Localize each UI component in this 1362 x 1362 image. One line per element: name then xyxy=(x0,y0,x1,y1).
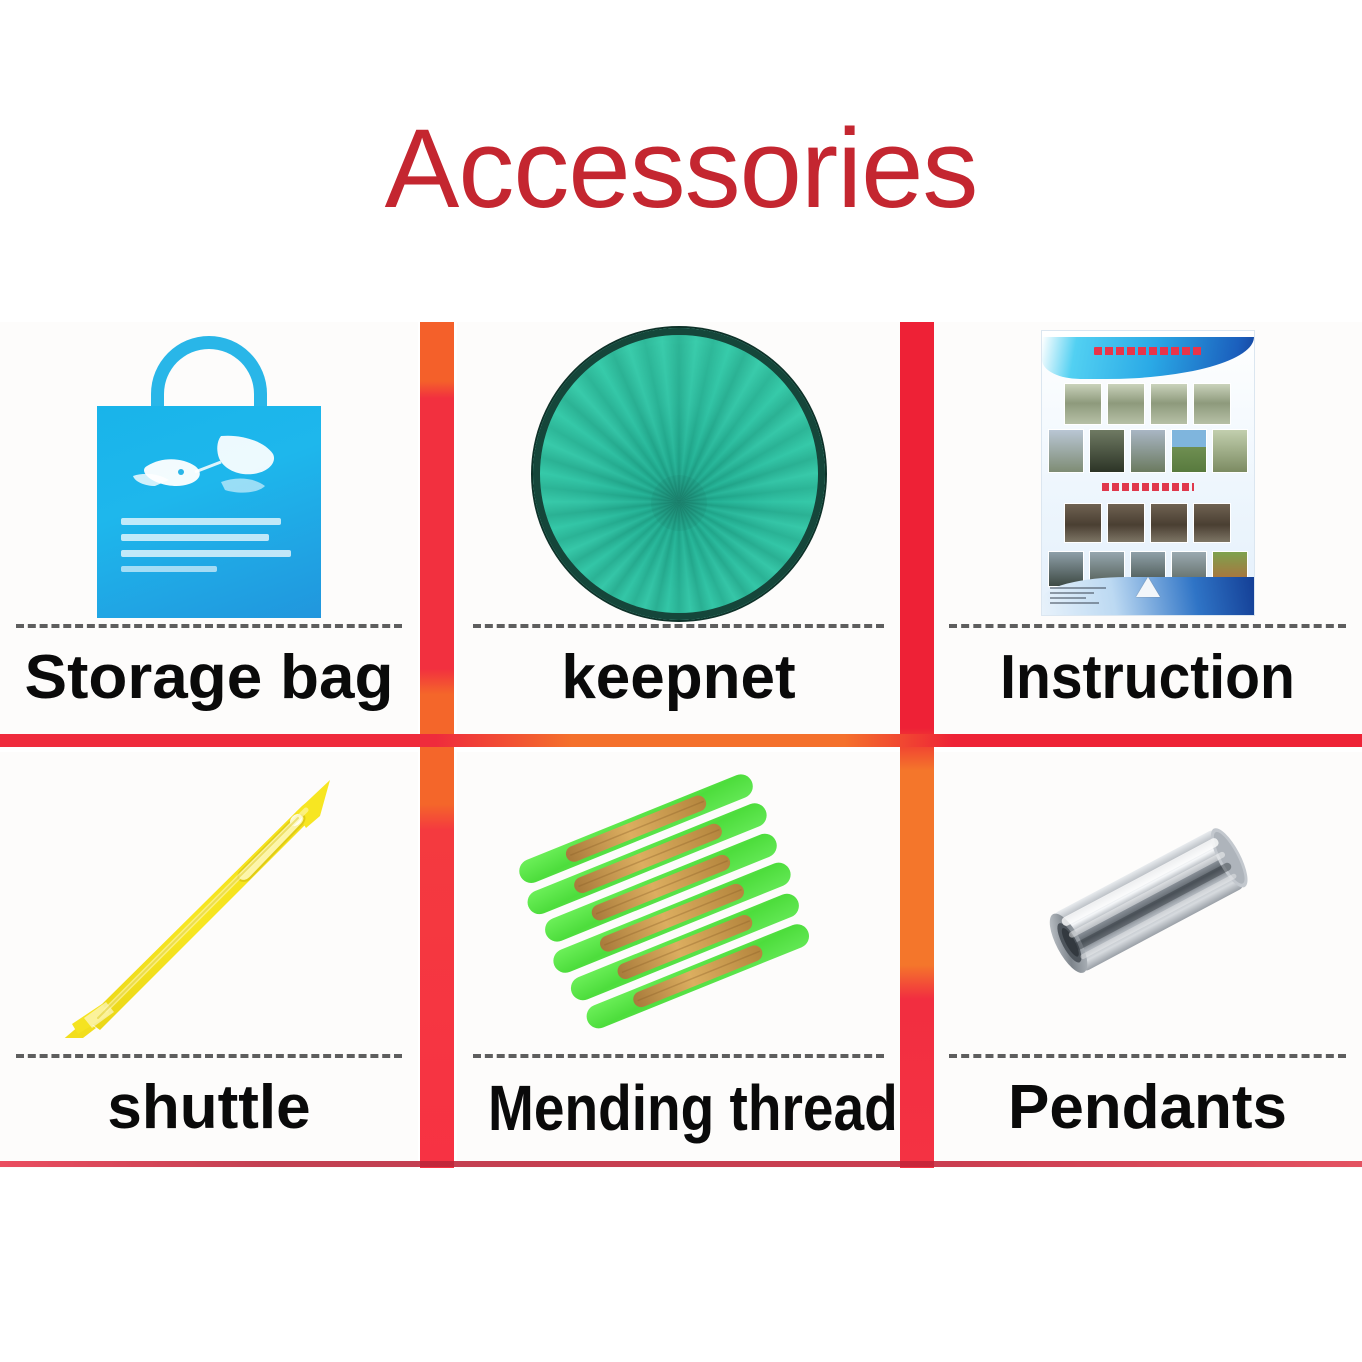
keepnet-mesh-texture xyxy=(540,335,818,613)
storage-bag-image xyxy=(0,322,418,622)
shuttle-image xyxy=(0,752,418,1052)
pendant-sinker-icon xyxy=(998,776,1298,1026)
grid-cell-keepnet[interactable]: keepnet xyxy=(457,322,900,740)
pendant-image xyxy=(933,752,1362,1052)
bag-body xyxy=(97,406,321,618)
accessories-page: Accessories xyxy=(0,0,1362,1362)
instruction-sheet-image xyxy=(933,322,1362,622)
pendant-body xyxy=(1042,824,1254,979)
instruction-poster xyxy=(1041,330,1255,616)
poster-thumb-row-1 xyxy=(1042,383,1254,425)
cell-divider-dashed xyxy=(473,1054,884,1058)
poster-thumb xyxy=(1089,429,1125,473)
poster-footer-text xyxy=(1050,587,1106,607)
bag-print-graphic xyxy=(125,432,289,506)
cell-divider-dashed xyxy=(949,624,1346,628)
cell-label-instruction: Instruction xyxy=(950,640,1345,716)
poster-thumb xyxy=(1107,503,1145,543)
poster-thumb xyxy=(1193,383,1231,425)
mending-thread-icon xyxy=(514,760,844,1046)
grid-cell-shuttle[interactable]: shuttle xyxy=(0,752,418,1168)
poster-header-banner xyxy=(1042,337,1254,379)
grid-cell-pendants[interactable]: Pendants xyxy=(933,752,1362,1168)
grid-cell-storage-bag[interactable]: Storage bag xyxy=(0,322,418,740)
keepnet-icon xyxy=(533,328,825,620)
poster-thumb xyxy=(1107,383,1145,425)
cell-label-shuttle: shuttle xyxy=(0,1070,418,1146)
poster-thumb xyxy=(1048,429,1084,473)
cell-divider-dashed xyxy=(473,624,884,628)
poster-thumb xyxy=(1064,383,1102,425)
grid-bottom-border xyxy=(0,1161,1362,1167)
cell-divider-dashed xyxy=(16,624,402,628)
poster-thumb-row-2 xyxy=(1042,429,1254,473)
bag-print-text xyxy=(121,518,297,581)
poster-thumb xyxy=(1150,503,1188,543)
cell-divider-dashed xyxy=(16,1054,402,1058)
poster-thumb xyxy=(1130,429,1166,473)
accessories-grid: Storage bag keepnet xyxy=(0,322,1362,1168)
mending-thread-image xyxy=(457,752,900,1052)
grid-cell-instruction[interactable]: Instruction xyxy=(933,322,1362,740)
netting-shuttle-icon xyxy=(44,762,374,1038)
shopping-bag-icon xyxy=(89,336,329,618)
grid-divider-horizontal xyxy=(0,734,1362,747)
poster-header-title-text xyxy=(1094,347,1202,355)
shuttle-body xyxy=(60,780,330,1038)
poster-thumb xyxy=(1171,429,1207,473)
page-title: Accessories xyxy=(0,108,1362,230)
poster-thumb xyxy=(1150,383,1188,425)
cell-label-pendants: Pendants xyxy=(933,1070,1362,1146)
poster-thumb-row-3 xyxy=(1042,503,1254,543)
cell-label-storage-bag: Storage bag xyxy=(0,640,418,716)
grid-cell-mending-thread[interactable]: Mending thread xyxy=(457,752,900,1168)
poster-thumb xyxy=(1193,503,1231,543)
keepnet-center-knot xyxy=(651,475,707,531)
cell-label-mending-thread: Mending thread xyxy=(488,1070,869,1146)
poster-thumb xyxy=(1064,503,1102,543)
keepnet-image xyxy=(457,322,900,622)
thread-bundle xyxy=(514,770,818,1037)
cell-divider-dashed xyxy=(949,1054,1346,1058)
warning-triangle-icon xyxy=(1136,577,1160,597)
poster-subtitle-text xyxy=(1102,483,1194,491)
poster-thumb xyxy=(1212,429,1248,473)
cell-label-keepnet: keepnet xyxy=(457,640,900,716)
